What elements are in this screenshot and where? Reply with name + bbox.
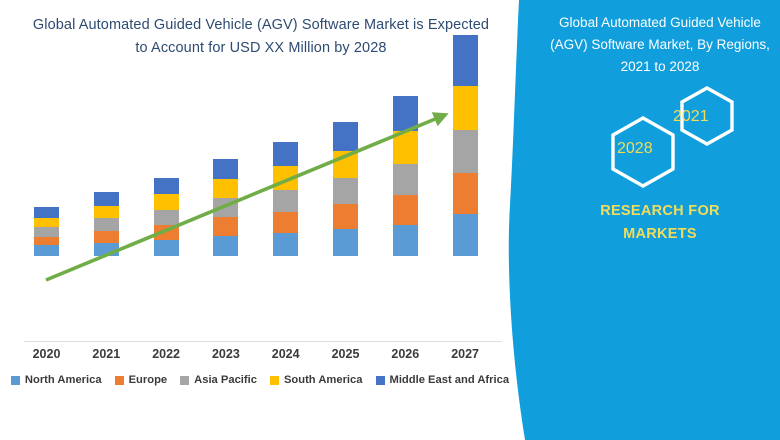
legend-item-north-america[interactable]: North America <box>11 374 102 386</box>
brand-title: Global Automated Guided Vehicle (AGV) So… <box>540 12 780 78</box>
x-axis-label-2021: 2021 <box>76 347 136 361</box>
brand-tagline-line2: MARKETS <box>540 223 780 246</box>
bar-segment-2023-1 <box>213 217 238 235</box>
bar-segment-2020-4 <box>34 207 59 218</box>
infographic-root: Global Automated Guided Vehicle (AGV) So… <box>0 0 780 440</box>
brand-tagline: RESEARCH FOR MARKETS <box>540 200 780 246</box>
bar-segment-2020-1 <box>34 237 59 246</box>
x-axis-label-2027: 2027 <box>435 347 495 361</box>
chart-legend: North AmericaEuropeAsia PacificSouth Ame… <box>0 374 520 386</box>
chart-panel: Global Automated Guided Vehicle (AGV) So… <box>0 0 520 440</box>
bar-segment-2022-4 <box>154 178 179 194</box>
growth-arrow-icon <box>0 0 520 355</box>
bar-segment-2021-3 <box>94 206 119 219</box>
bar-segment-2026-3 <box>393 131 418 164</box>
bar-segment-2022-0 <box>154 240 179 256</box>
bar-2023 <box>213 159 238 256</box>
bar-segment-2021-2 <box>94 218 119 231</box>
bar-segment-2026-2 <box>393 164 418 196</box>
bar-2026 <box>393 96 418 256</box>
bar-2024 <box>273 142 298 256</box>
bar-segment-2024-2 <box>273 190 298 212</box>
bar-segment-2026-4 <box>393 96 418 131</box>
bar-segment-2021-4 <box>94 192 119 205</box>
x-axis-label-2024: 2024 <box>256 347 316 361</box>
bar-segment-2025-3 <box>333 151 358 178</box>
legend-swatch-icon <box>270 376 279 385</box>
axis-baseline <box>24 341 502 342</box>
x-axis-label-2023: 2023 <box>196 347 256 361</box>
x-axis-label-2022: 2022 <box>136 347 196 361</box>
brand-panel: Global Automated Guided Vehicle (AGV) So… <box>540 0 780 440</box>
bar-segment-2021-1 <box>94 231 119 243</box>
bar-segment-2025-1 <box>333 204 358 229</box>
bar-segment-2020-0 <box>34 245 59 256</box>
legend-item-asia-pacific[interactable]: Asia Pacific <box>180 374 257 386</box>
bar-2020 <box>34 207 59 256</box>
bar-segment-2027-1 <box>453 173 478 213</box>
hexagon-label-2028: 2028 <box>617 140 653 158</box>
bar-segment-2020-3 <box>34 218 59 228</box>
legend-label: Middle East and Africa <box>390 374 510 386</box>
bar-segment-2027-4 <box>453 35 478 86</box>
legend-swatch-icon <box>11 376 20 385</box>
plot-area <box>0 0 520 355</box>
bar-2022 <box>154 178 179 256</box>
bar-segment-2022-3 <box>154 194 179 209</box>
bar-segment-2027-0 <box>453 214 478 256</box>
bar-segment-2022-1 <box>154 225 179 239</box>
x-axis-label-2020: 2020 <box>17 347 77 361</box>
bar-segment-2024-4 <box>273 142 298 166</box>
bar-segment-2025-2 <box>333 178 358 204</box>
bar-segment-2021-0 <box>94 243 119 256</box>
legend-swatch-icon <box>376 376 385 385</box>
bar-2025 <box>333 122 358 256</box>
bar-segment-2023-3 <box>213 179 238 198</box>
legend-item-europe[interactable]: Europe <box>115 374 168 386</box>
bar-segment-2020-2 <box>34 227 59 237</box>
bar-2021 <box>94 192 119 256</box>
legend-swatch-icon <box>115 376 124 385</box>
legend-label: North America <box>25 374 102 386</box>
bar-segment-2024-0 <box>273 233 298 256</box>
x-axis-label-2025: 2025 <box>316 347 376 361</box>
bar-segment-2024-1 <box>273 212 298 233</box>
bar-segment-2027-3 <box>453 86 478 130</box>
bar-segment-2023-2 <box>213 198 238 217</box>
legend-swatch-icon <box>180 376 189 385</box>
bar-segment-2022-2 <box>154 210 179 225</box>
brand-tagline-line1: RESEARCH FOR <box>540 200 780 223</box>
legend-item-south-america[interactable]: South America <box>270 374 363 386</box>
bar-segment-2023-4 <box>213 159 238 179</box>
x-axis-labels: 20202021202220232024202520262027 <box>0 347 520 367</box>
bar-segment-2024-3 <box>273 166 298 189</box>
legend-label: Asia Pacific <box>194 374 257 386</box>
bar-segment-2025-0 <box>333 229 358 256</box>
bar-segment-2026-1 <box>393 195 418 225</box>
bar-segment-2023-0 <box>213 236 238 256</box>
hexagon-badges: 2028 2021 <box>595 80 745 200</box>
bar-segment-2025-4 <box>333 122 358 151</box>
bar-segment-2026-0 <box>393 225 418 256</box>
legend-label: Europe <box>129 374 168 386</box>
hexagon-label-2021: 2021 <box>673 108 709 126</box>
legend-label: South America <box>284 374 363 386</box>
x-axis-label-2026: 2026 <box>375 347 435 361</box>
bar-2027 <box>453 35 478 256</box>
legend-item-middle-east-and-africa[interactable]: Middle East and Africa <box>376 374 510 386</box>
bar-segment-2027-2 <box>453 130 478 173</box>
